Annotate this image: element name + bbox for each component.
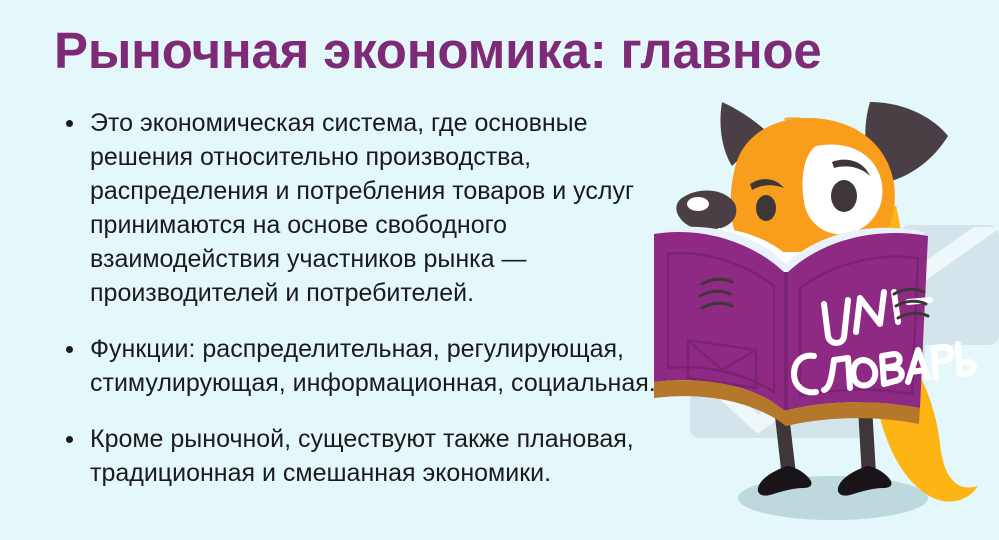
fox-nose-highlight xyxy=(687,197,709,211)
fox-reading-dictionary-illustration xyxy=(648,88,999,540)
fox-pupil-right xyxy=(831,180,857,212)
book-spine xyxy=(784,272,788,410)
fox-snout xyxy=(676,191,736,231)
bullet-dot-icon xyxy=(66,120,73,127)
bullet-dot-icon xyxy=(66,346,73,353)
page-title: Рыночная экономика: главное xyxy=(54,22,822,79)
list-item: Функции: распределительная, регулирующая… xyxy=(58,332,658,400)
list-item-text: Это экономическая система, где основные … xyxy=(90,106,658,310)
list-item: Это экономическая система, где основные … xyxy=(58,106,658,310)
slide-canvas: Рыночная экономика: главное Это экономич… xyxy=(0,0,999,540)
list-item-text: Кроме рыночной, существуют также планова… xyxy=(90,422,658,490)
bullet-dot-icon xyxy=(66,436,73,443)
list-item: Кроме рыночной, существуют также планова… xyxy=(58,422,658,490)
bullet-list: Это экономическая система, где основные … xyxy=(58,106,658,490)
fox-pupil-left xyxy=(756,195,776,221)
list-item-text: Функции: распределительная, регулирующая… xyxy=(90,332,658,400)
